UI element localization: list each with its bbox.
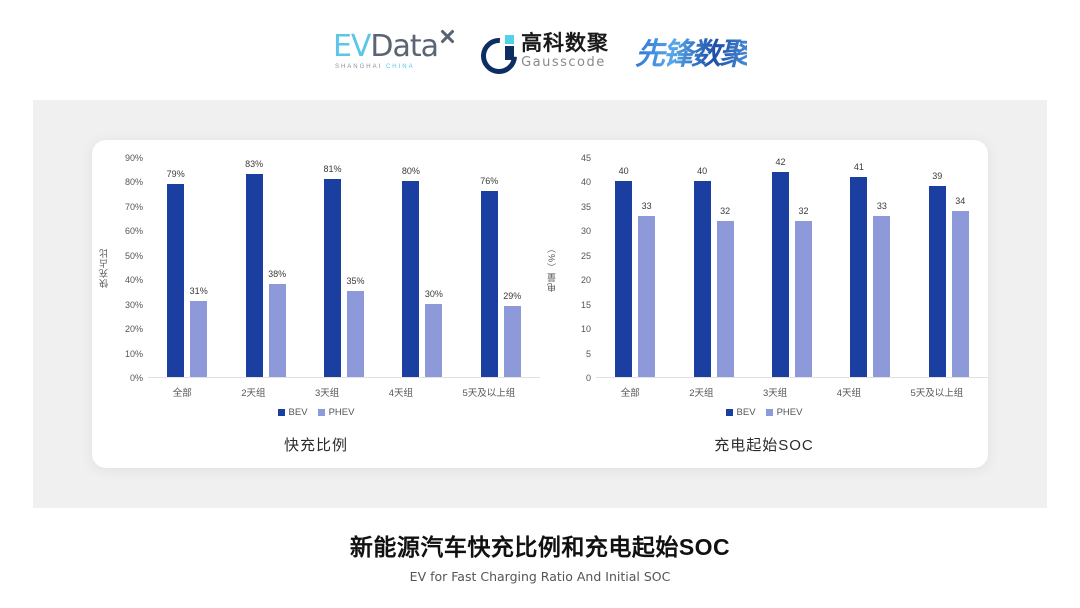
plot-area: 电量（%）05101520253035404540334032423241333… (540, 158, 988, 378)
bar-bev[interactable]: 41 (850, 177, 867, 377)
bar-value-label: 34 (955, 196, 965, 206)
bar-group: 80%30% (402, 158, 442, 377)
bar-phev[interactable]: 30% (425, 304, 442, 377)
bar-phev[interactable]: 32 (795, 221, 812, 377)
y-axis-tick-label: 70% (125, 202, 143, 212)
bar-phev[interactable]: 35% (347, 291, 364, 377)
x-axis-tick-label: 3天组 (315, 385, 339, 399)
evdata-wordmark: EV Data (333, 32, 455, 62)
y-axis-tick-label: 45 (581, 153, 591, 163)
bar-value-label: 32 (798, 206, 808, 216)
chart-title: 快充比例 (92, 434, 540, 454)
bar-bev[interactable]: 42 (772, 172, 789, 377)
bar-group: 4033 (615, 158, 655, 377)
y-axis-tick-label: 40 (581, 177, 591, 187)
legend-label: PHEV (329, 407, 355, 418)
gausscode-mark-icon (481, 34, 515, 68)
bar-value-label: 29% (503, 291, 521, 301)
plot-area: 快充占比0%10%20%30%40%50%60%70%80%90%79%31%8… (92, 158, 540, 378)
bar-value-label: 40 (697, 166, 707, 176)
y-axis-tick-label: 30% (125, 300, 143, 310)
bar-value-label: 80% (402, 166, 420, 176)
legend-item-bev[interactable]: BEV (278, 407, 308, 418)
bar-phev[interactable]: 33 (873, 216, 890, 377)
x-axis-tick-label: 4天组 (837, 385, 861, 399)
bar-value-label: 41 (854, 162, 864, 172)
x-axis-labels: 全部2天组3天组4天组5天及以上组 (148, 384, 540, 400)
legend-swatch-phev (766, 409, 773, 416)
bar-phev[interactable]: 32 (717, 221, 734, 377)
bar-group: 83%38% (246, 158, 286, 377)
chart-legend: BEVPHEV (540, 404, 988, 420)
bar-value-label: 39 (932, 171, 942, 181)
y-axis-tick-label: 20% (125, 324, 143, 334)
bar-bev[interactable]: 76% (481, 191, 498, 377)
xianfeng-logo: 先锋数聚 (635, 29, 747, 73)
gausscode-logo: 高科数聚 Gausscode (481, 33, 609, 69)
x-axis-tick-label: 5天及以上组 (462, 385, 515, 399)
chart-initial-soc: 电量（%）05101520253035404540334032423241333… (540, 140, 988, 468)
x-axis-tick-label: 5天及以上组 (910, 385, 963, 399)
y-axis-tick-label: 50% (125, 251, 143, 261)
x-axis-tick-label: 4天组 (389, 385, 413, 399)
y-axis-tick-label: 60% (125, 226, 143, 236)
x-axis-tick-label: 2天组 (689, 385, 713, 399)
y-axis-title: 快充占比 (92, 158, 114, 378)
bar-bev[interactable]: 40 (615, 181, 632, 377)
y-axis-tick-label: 15 (581, 300, 591, 310)
x-axis-tick-label: 全部 (621, 385, 640, 399)
gausscode-wordmark: 高科数聚 Gausscode (521, 33, 609, 69)
legend-swatch-bev (726, 409, 733, 416)
bar-group: 3934 (929, 158, 969, 377)
y-axis-tick-label: 30 (581, 226, 591, 236)
footer: 新能源汽车快充比例和充电起始SOC EV for Fast Charging R… (0, 528, 1080, 584)
bar-value-label: 33 (877, 201, 887, 211)
evdata-logo: EV Data SHANGHAI CHINA (333, 32, 455, 70)
legend-swatch-phev (318, 409, 325, 416)
bar-bev[interactable]: 39 (929, 186, 946, 377)
bar-value-label: 40 (619, 166, 629, 176)
gausscode-en-text: Gausscode (521, 56, 609, 69)
y-axis-ticks: 051015202530354045 (562, 158, 596, 378)
chart-legend: BEVPHEV (92, 404, 540, 420)
legend-label: BEV (737, 407, 756, 418)
y-axis-ticks: 0%10%20%30%40%50%60%70%80%90% (114, 158, 148, 378)
gausscode-cn-text: 高科数聚 (521, 33, 609, 54)
evdata-tagline: SHANGHAI CHINA (335, 64, 415, 70)
bar-value-label: 30% (425, 289, 443, 299)
bar-group: 4133 (850, 158, 890, 377)
legend-item-phev[interactable]: PHEV (766, 407, 803, 418)
legend-label: PHEV (777, 407, 803, 418)
bar-value-label: 32 (720, 206, 730, 216)
bar-group: 81%35% (324, 158, 364, 377)
bar-value-label: 83% (245, 159, 263, 169)
bar-value-label: 81% (323, 164, 341, 174)
x-axis-tick-label: 2天组 (241, 385, 265, 399)
legend-item-bev[interactable]: BEV (726, 407, 756, 418)
y-axis-tick-label: 80% (125, 177, 143, 187)
bar-value-label: 31% (190, 286, 208, 296)
bar-group: 4032 (694, 158, 734, 377)
x-axis-tick-label: 3天组 (763, 385, 787, 399)
y-axis-tick-label: 10% (125, 349, 143, 359)
bar-value-label: 33 (642, 201, 652, 211)
bar-phev[interactable]: 34 (952, 211, 969, 377)
bar-bev[interactable]: 40 (694, 181, 711, 377)
bar-group: 4232 (772, 158, 812, 377)
bar-value-label: 79% (167, 169, 185, 179)
chart-title: 充电起始SOC (540, 434, 988, 454)
x-axis-tick-label: 全部 (173, 385, 192, 399)
chart-fast-charging-ratio: 快充占比0%10%20%30%40%50%60%70%80%90%79%31%8… (92, 140, 540, 468)
legend-swatch-bev (278, 409, 285, 416)
bar-value-label: 42 (775, 157, 785, 167)
bar-bev[interactable]: 80% (402, 181, 419, 377)
bars-plot: 79%31%83%38%81%35%80%30%76%29% (148, 158, 540, 378)
y-axis-tick-label: 35 (581, 202, 591, 212)
x-mark-icon (439, 28, 455, 44)
evdata-tagline-country: CHINA (386, 64, 415, 70)
bar-value-label: 76% (480, 176, 498, 186)
y-axis-tick-label: 20 (581, 275, 591, 285)
bar-phev[interactable]: 33 (638, 216, 655, 377)
y-axis-tick-label: 0 (586, 373, 591, 383)
charts-container: 快充占比0%10%20%30%40%50%60%70%80%90%79%31%8… (92, 140, 988, 468)
bar-value-label: 35% (346, 276, 364, 286)
bar-bev[interactable]: 79% (167, 184, 184, 377)
evdata-tagline-city: SHANGHAI (335, 64, 382, 70)
bar-bev[interactable]: 81% (324, 179, 341, 377)
y-axis-tick-label: 0% (130, 373, 143, 383)
x-axis-labels: 全部2天组3天组4天组5天及以上组 (596, 384, 988, 400)
bar-phev[interactable]: 29% (504, 306, 521, 377)
legend-item-phev[interactable]: PHEV (318, 407, 355, 418)
bar-phev[interactable]: 31% (190, 301, 207, 377)
bar-bev[interactable]: 83% (246, 174, 263, 377)
y-axis-tick-label: 90% (125, 153, 143, 163)
bar-group: 79%31% (167, 158, 207, 377)
evdata-ev-text: EV (333, 32, 370, 62)
legend-label: BEV (289, 407, 308, 418)
bar-value-label: 38% (268, 269, 286, 279)
y-axis-tick-label: 5 (586, 349, 591, 359)
y-axis-title: 电量（%） (540, 158, 562, 378)
y-axis-tick-label: 10 (581, 324, 591, 334)
bar-group: 76%29% (481, 158, 521, 377)
bars-plot: 40334032423241333934 (596, 158, 988, 378)
y-axis-tick-label: 40% (125, 275, 143, 285)
bar-phev[interactable]: 38% (269, 284, 286, 377)
logo-strip: EV Data SHANGHAI CHINA 高科数聚 Gausscode 先锋… (0, 22, 1080, 80)
page-title: 新能源汽车快充比例和充电起始SOC (0, 528, 1080, 562)
y-axis-tick-label: 25 (581, 251, 591, 261)
xianfeng-cn-text: 先锋数聚 (635, 29, 747, 73)
evdata-data-text: Data (370, 32, 438, 62)
page-subtitle: EV for Fast Charging Ratio And Initial S… (0, 569, 1080, 584)
